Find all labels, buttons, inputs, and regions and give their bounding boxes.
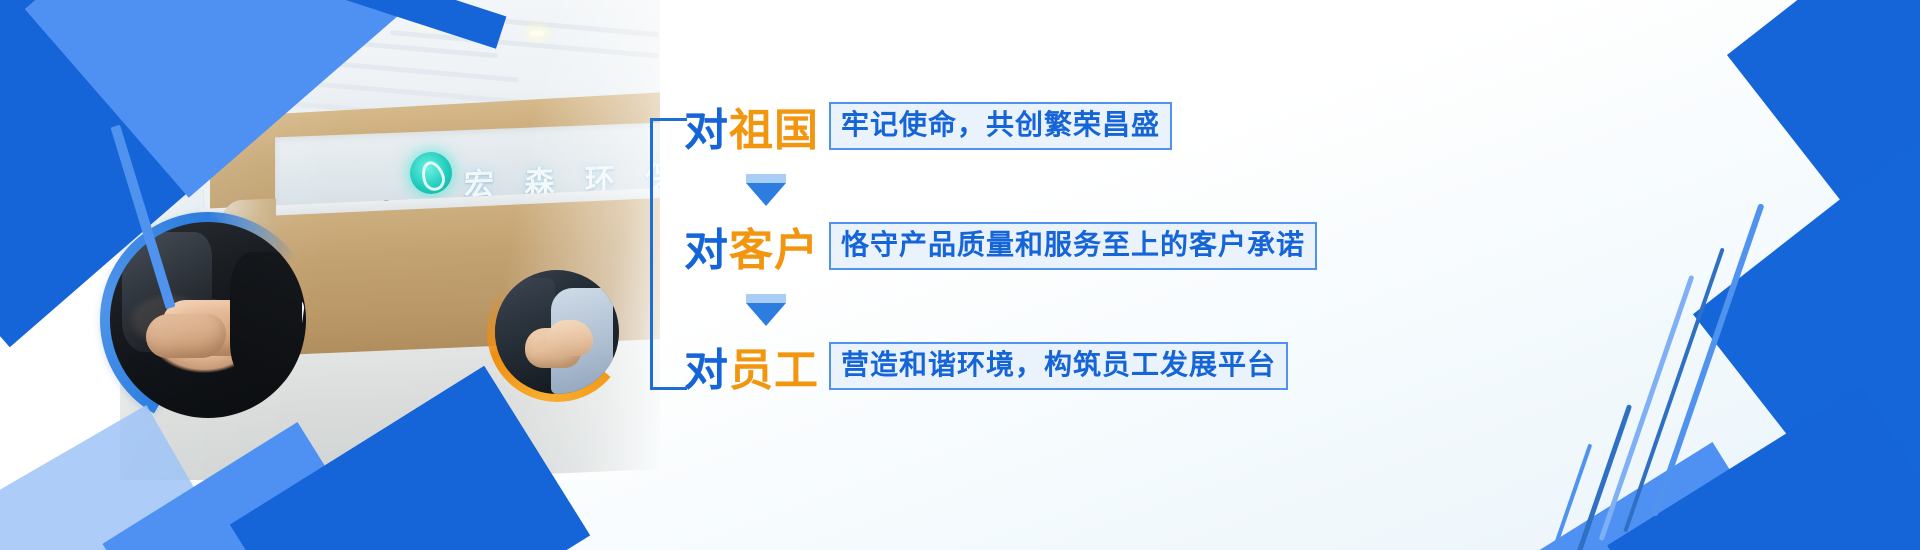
statement-row-guojia: 对 祖国 牢记使命，共创繁荣昌盛 <box>684 94 1172 158</box>
bracket-left-icon <box>650 118 687 390</box>
chevron-down-filled-icon-2 <box>746 294 786 326</box>
handshake-photo: 商务握手照片 <box>110 222 306 418</box>
statement-desc-3: 营造和谐环境，构筑员工发展平台 <box>829 342 1288 390</box>
statement-keyword-3: 员工 <box>729 334 819 398</box>
shirt-cuff <box>255 293 306 351</box>
hongsen-leaf-logo-icon <box>410 152 452 194</box>
statement-desc-2: 恪守产品质量和服务至上的客户承诺 <box>829 222 1317 270</box>
statement-lead-2: 对 <box>684 214 729 278</box>
statement-desc-1: 牢记使命，共创繁荣昌盛 <box>829 102 1172 150</box>
statement-row-kehu: 对 客户 恪守产品质量和服务至上的客户承诺 <box>684 214 1317 278</box>
statements-block: 对 祖国 牢记使命，共创繁荣昌盛 对 客户 恪守产品质量和服务至上的客户承诺 对… <box>650 78 1650 408</box>
chevron-down-filled-icon-1 <box>746 174 786 206</box>
statement-lead-1: 对 <box>684 94 729 158</box>
handshake-hand-left <box>146 314 226 358</box>
statement-keyword-2: 客户 <box>729 214 819 278</box>
meeting-hand-two <box>547 320 593 356</box>
statement-keyword-1: 祖国 <box>729 94 819 158</box>
statement-lead-3: 对 <box>684 334 729 398</box>
decor-polygon-bottom-right-blue <box>1607 386 1920 550</box>
statement-row-yuangong: 对 员工 营造和谐环境，构筑员工发展平台 <box>684 334 1288 398</box>
meeting-photo: 商务交流照片 <box>495 270 619 394</box>
promo-banner: 宏 森 环 保 HONGSEN ENVIRONMENTAL PROTECTION… <box>0 0 1920 550</box>
